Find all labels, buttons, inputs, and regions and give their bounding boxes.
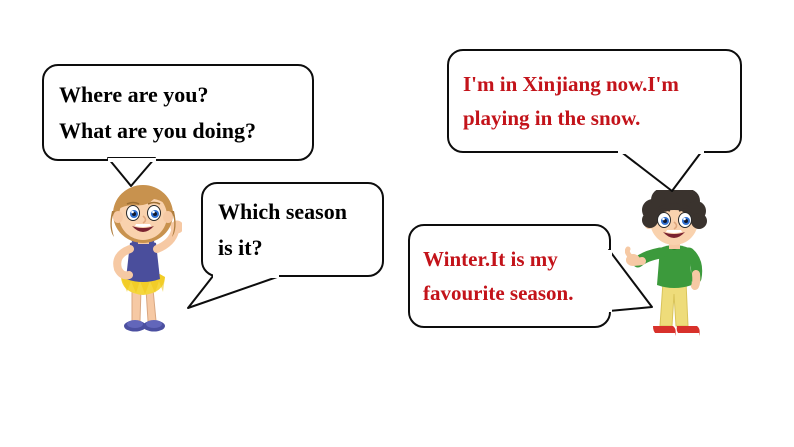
bubble-line: Winter.It is my — [423, 248, 609, 270]
bubble-line: I'm in Xinjiang now.I'm — [463, 73, 740, 95]
slide-canvas: Where are you? What are you doing? Which… — [0, 0, 794, 447]
girl-character — [96, 185, 182, 340]
bubble-line: favourite season. — [423, 282, 609, 304]
speech-bubble-where-are-you: Where are you? What are you doing? — [42, 64, 314, 161]
bubble-line: Where are you? — [59, 83, 312, 106]
bubble-line: What are you doing? — [59, 119, 312, 142]
speech-bubble-winter: Winter.It is my favourite season. — [408, 224, 611, 328]
speech-bubble-xinjiang: I'm in Xinjiang now.I'm playing in the s… — [447, 49, 742, 153]
speech-bubble-which-season: Which season is it? — [201, 182, 384, 277]
boy-character — [625, 190, 720, 345]
bubble-line: playing in the snow. — [463, 107, 740, 129]
bubble-tail-season — [188, 276, 277, 308]
bubble-tail-xinjiang — [620, 151, 702, 191]
bubble-line: Which season — [218, 200, 382, 223]
bubble-tail-where — [108, 158, 155, 186]
bubble-line: is it? — [218, 236, 382, 259]
